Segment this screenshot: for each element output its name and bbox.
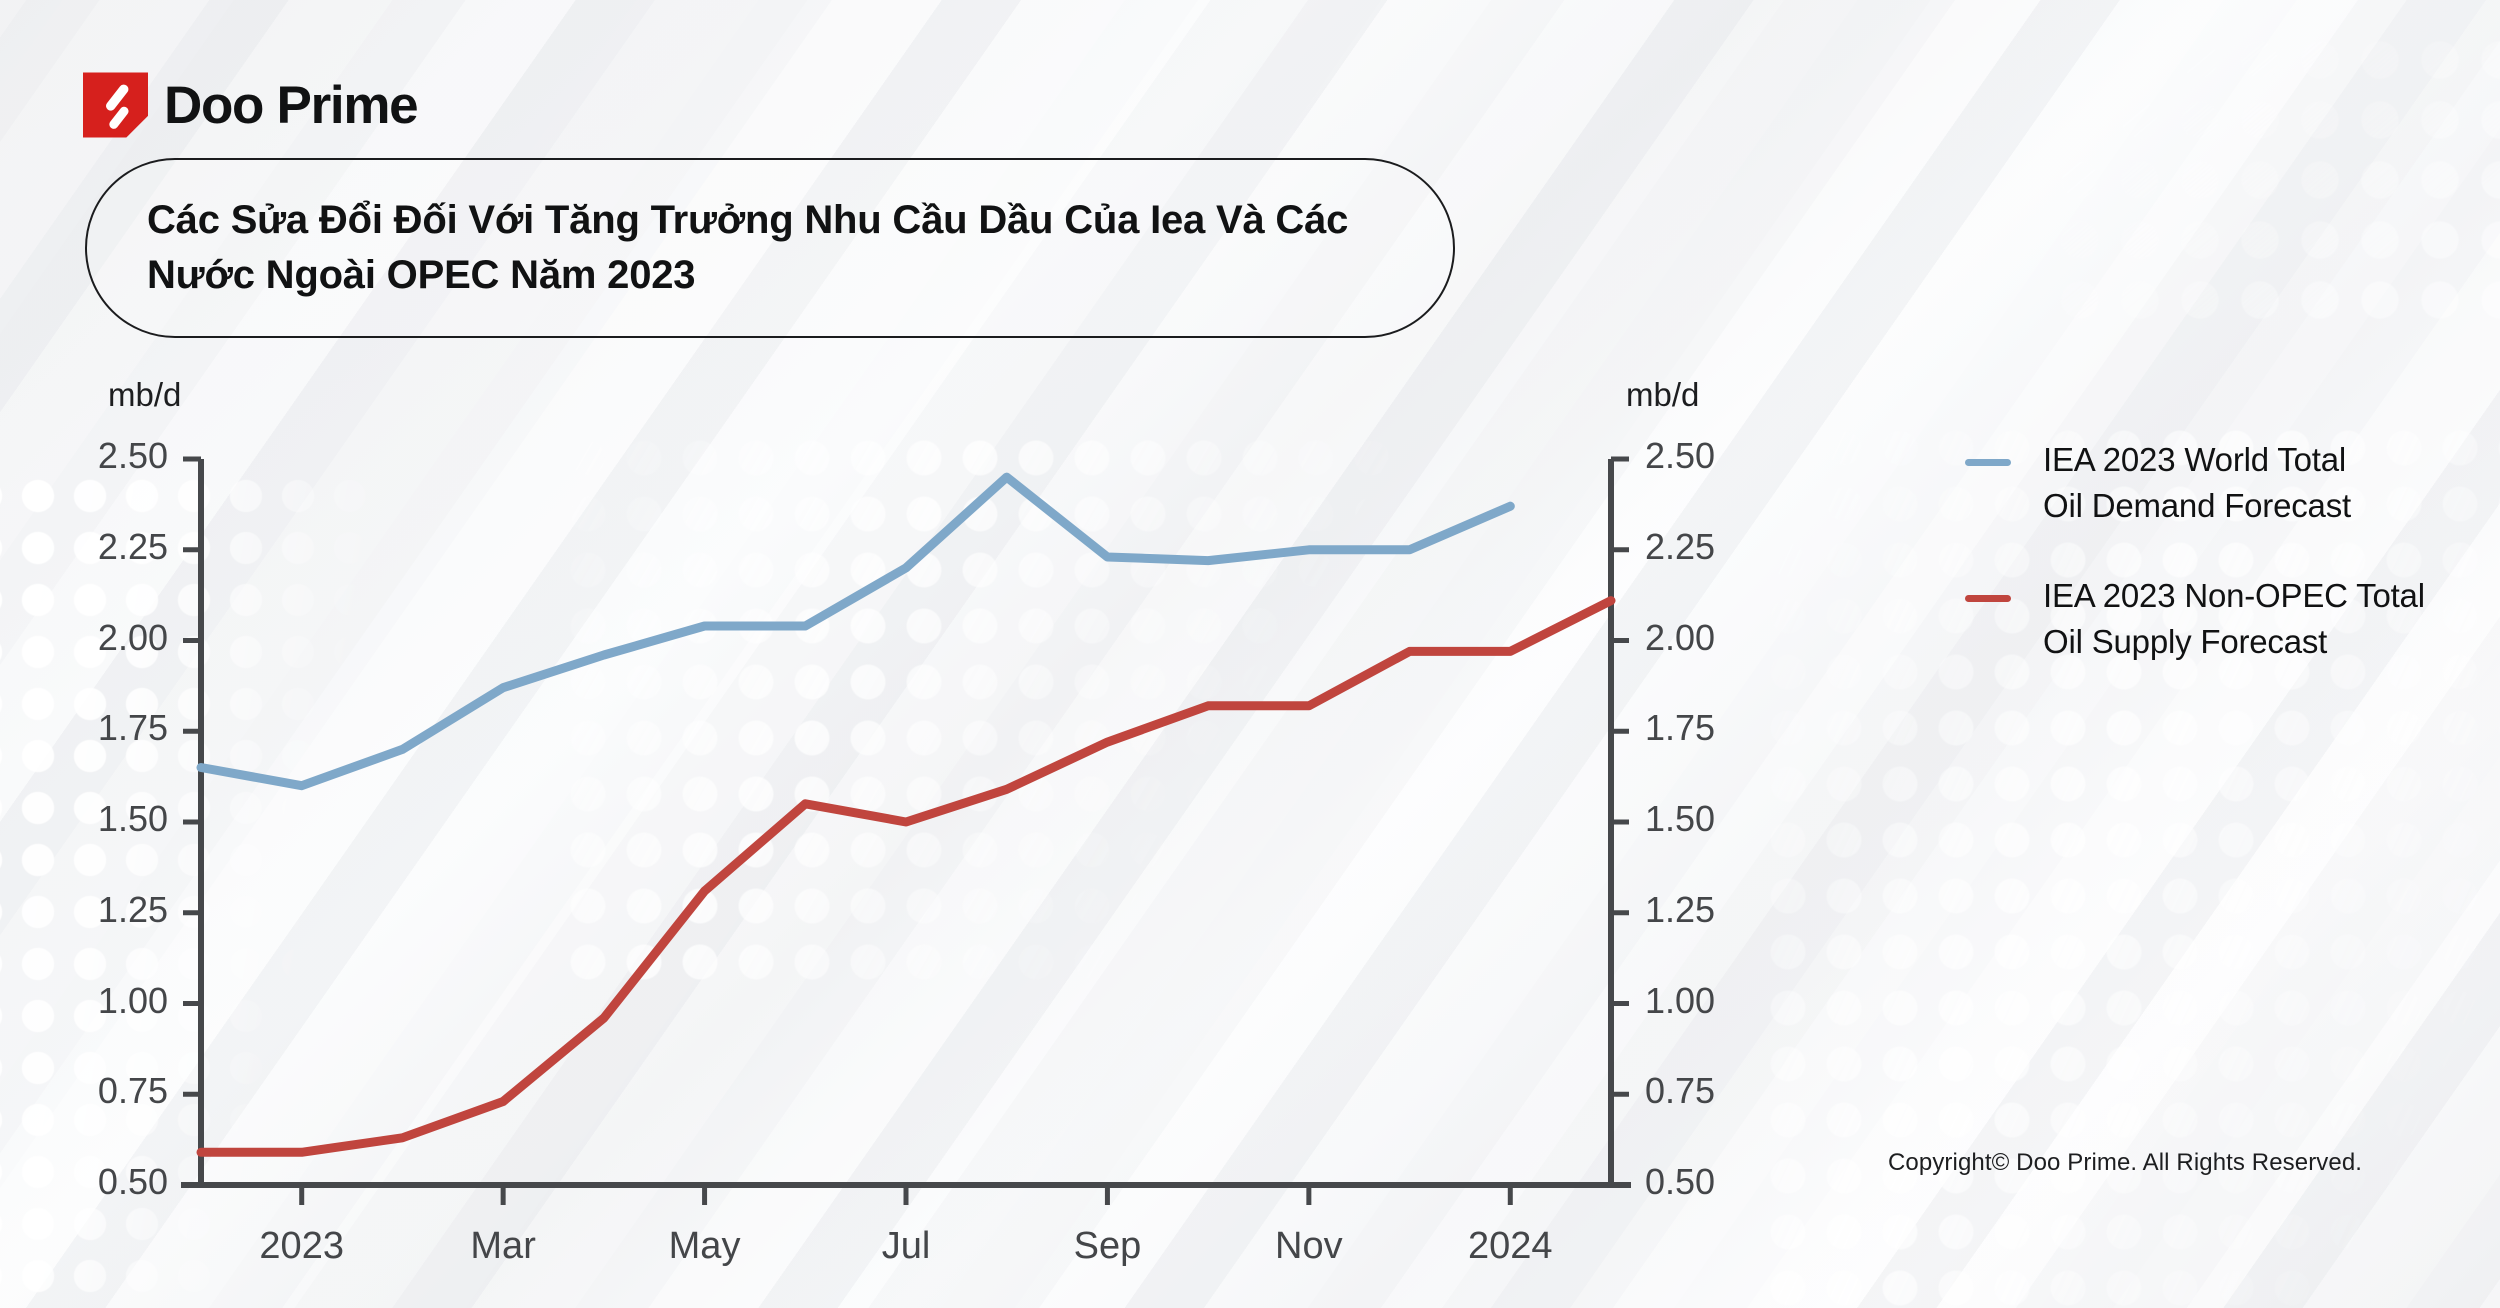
x-tick-label: May — [605, 1225, 805, 1268]
y-tick-label-left: 1.00 — [38, 980, 168, 1022]
chart-legend: IEA 2023 World Total Oil Demand Forecast… — [1965, 437, 2465, 709]
legend-swatch-demand — [1965, 459, 2011, 466]
y-tick-label-left: 2.00 — [38, 617, 168, 659]
y-tick-label-left: 1.75 — [38, 707, 168, 749]
legend-label-supply: IEA 2023 Non-OPEC Total Oil Supply Forec… — [2043, 573, 2425, 664]
y-tick-label-right: 0.50 — [1645, 1161, 1775, 1203]
y-tick-label-right: 0.75 — [1645, 1070, 1775, 1112]
series-line-supply — [201, 601, 1611, 1153]
x-tick-label: Sep — [1007, 1225, 1207, 1268]
chart-container: mb/d mb/d 2.502.252.001.751.501.251.000.… — [0, 0, 1720, 1308]
x-tick-label: Nov — [1209, 1225, 1409, 1268]
legend-item-supply[interactable]: IEA 2023 Non-OPEC Total Oil Supply Forec… — [1965, 573, 2465, 664]
y-tick-label-left: 2.50 — [38, 435, 168, 477]
y-tick-label-right: 1.00 — [1645, 980, 1775, 1022]
y-tick-label-left: 1.25 — [38, 889, 168, 931]
legend-label-demand: IEA 2023 World Total Oil Demand Forecast — [2043, 437, 2351, 528]
y-tick-label-right: 1.75 — [1645, 707, 1775, 749]
x-tick-label: 2023 — [202, 1225, 402, 1268]
x-tick-label: Jul — [806, 1225, 1006, 1268]
legend-item-demand[interactable]: IEA 2023 World Total Oil Demand Forecast — [1965, 437, 2465, 528]
y-tick-label-right: 2.00 — [1645, 617, 1775, 659]
series-line-demand — [201, 477, 1510, 786]
y-tick-label-left: 2.25 — [38, 526, 168, 568]
chart-plot — [0, 0, 1720, 1308]
x-tick-label: 2024 — [1410, 1225, 1610, 1268]
y-tick-label-right: 1.25 — [1645, 889, 1775, 931]
legend-swatch-supply — [1965, 595, 2011, 602]
y-tick-label-right: 2.50 — [1645, 435, 1775, 477]
x-tick-label: Mar — [403, 1225, 603, 1268]
y-tick-label-left: 0.75 — [38, 1070, 168, 1112]
copyright-notice: Copyright© Doo Prime. All Rights Reserve… — [1888, 1149, 2362, 1177]
y-tick-label-left: 1.50 — [38, 798, 168, 840]
y-tick-label-right: 1.50 — [1645, 798, 1775, 840]
y-tick-label-left: 0.50 — [38, 1161, 168, 1203]
y-tick-label-right: 2.25 — [1645, 526, 1775, 568]
